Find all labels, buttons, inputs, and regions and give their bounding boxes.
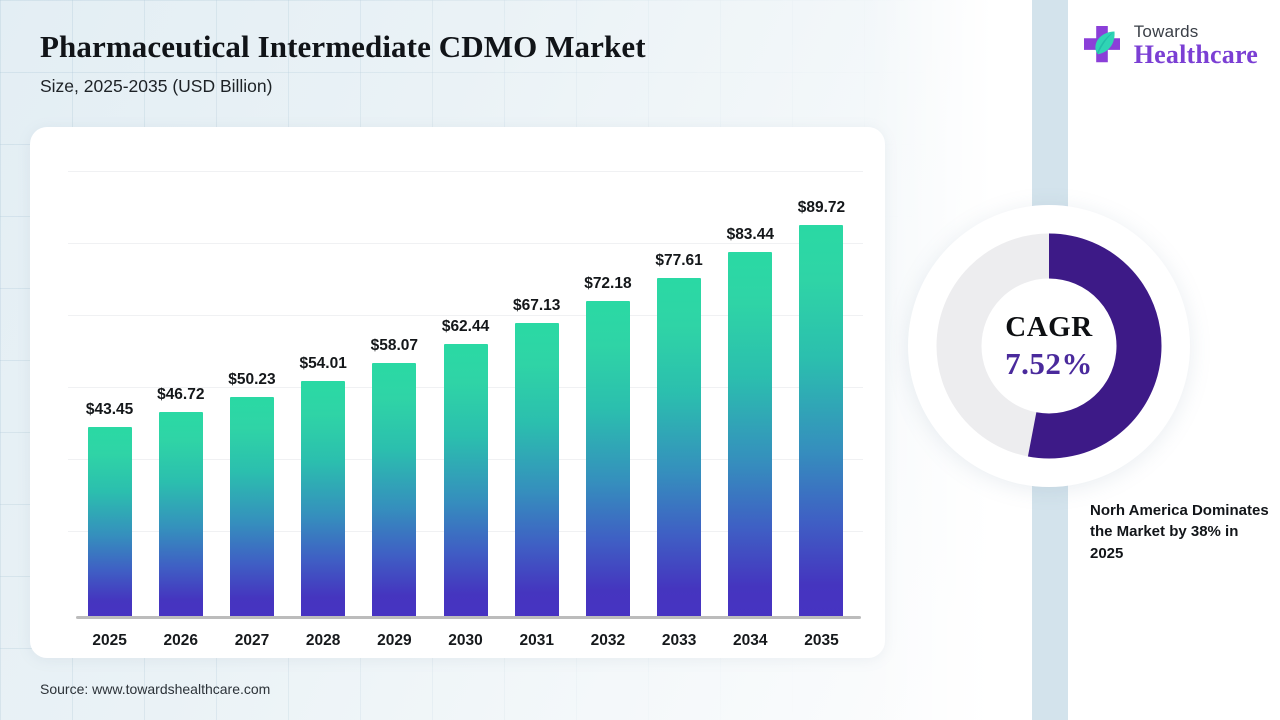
bar[interactable]: [301, 381, 345, 616]
bar-value-label: $67.13: [513, 297, 560, 315]
bar-slot[interactable]: $67.13: [501, 158, 572, 616]
chart-card: $43.45$46.72$50.23$54.01$58.07$62.44$67.…: [30, 127, 885, 658]
bar-slot[interactable]: $43.45: [74, 158, 145, 616]
bar[interactable]: [657, 278, 701, 616]
x-axis-tick-label: 2031: [501, 632, 572, 650]
x-axis-tick-label: 2026: [145, 632, 216, 650]
cagr-value: 7.52%: [1005, 346, 1093, 382]
bar-value-label: $43.45: [86, 401, 133, 419]
brand-logo-line1: Towards: [1134, 23, 1258, 40]
x-axis-tick-label: 2025: [74, 632, 145, 650]
bar-slot[interactable]: $50.23: [216, 158, 287, 616]
bar-value-label: $50.23: [228, 371, 275, 389]
bar-value-label: $89.72: [798, 199, 845, 217]
x-axis-tick-label: 2028: [288, 632, 359, 650]
bar[interactable]: [728, 252, 772, 616]
x-axis-tick-label: 2027: [216, 632, 287, 650]
x-axis-tick-label: 2032: [572, 632, 643, 650]
bar-value-label: $72.18: [584, 275, 631, 293]
x-axis-tick-label: 2030: [430, 632, 501, 650]
page-title: Pharmaceutical Intermediate CDMO Market: [40, 30, 870, 65]
brand-logo-line2: Healthcare: [1134, 42, 1258, 68]
header: Pharmaceutical Intermediate CDMO Market …: [40, 30, 870, 97]
donut-center-text: CAGR 7.52%: [908, 205, 1190, 487]
bar[interactable]: [230, 397, 274, 616]
bar[interactable]: [444, 344, 488, 616]
cagr-label: CAGR: [1005, 311, 1092, 344]
x-axis-labels: 2025202620272028202920302031203220332034…: [68, 632, 863, 650]
bar[interactable]: [586, 301, 630, 616]
bar-chart-plot-area: $43.45$46.72$50.23$54.01$58.07$62.44$67.…: [68, 158, 863, 619]
bar-value-label: $77.61: [655, 252, 702, 270]
bar[interactable]: [159, 412, 203, 616]
medical-cross-leaf-icon: [1079, 22, 1125, 68]
source-note: Source: www.towardshealthcare.com: [40, 681, 270, 697]
bar-slot[interactable]: $89.72: [786, 158, 857, 616]
x-axis-line: [76, 616, 861, 619]
bar-slot[interactable]: $58.07: [359, 158, 430, 616]
x-axis-tick-label: 2034: [715, 632, 786, 650]
region-highlight-note: Norh America Dominates the Market by 38%…: [1090, 500, 1270, 564]
bar-slot[interactable]: $72.18: [572, 158, 643, 616]
page-subtitle: Size, 2025-2035 (USD Billion): [40, 76, 870, 97]
bar-value-label: $83.44: [727, 226, 774, 244]
x-axis-tick-label: 2029: [359, 632, 430, 650]
bar-value-label: $54.01: [299, 355, 346, 373]
bar-value-label: $62.44: [442, 318, 489, 336]
x-axis-tick-label: 2035: [786, 632, 857, 650]
bar[interactable]: [515, 323, 559, 616]
bar[interactable]: [799, 225, 843, 616]
bar-value-label: $58.07: [371, 337, 418, 355]
bar-slot[interactable]: $46.72: [145, 158, 216, 616]
bar-value-label: $46.72: [157, 386, 204, 404]
bar[interactable]: [88, 427, 132, 616]
brand-logo-text: Towards Healthcare: [1134, 23, 1258, 68]
brand-logo: Towards Healthcare: [1079, 22, 1258, 68]
bar-series: $43.45$46.72$50.23$54.01$58.07$62.44$67.…: [68, 158, 863, 616]
x-axis-tick-label: 2033: [644, 632, 715, 650]
cagr-donut-chart: CAGR 7.52%: [908, 205, 1190, 487]
bar-slot[interactable]: $77.61: [644, 158, 715, 616]
bar[interactable]: [372, 363, 416, 616]
bar-slot[interactable]: $83.44: [715, 158, 786, 616]
bar-slot[interactable]: $62.44: [430, 158, 501, 616]
bar-slot[interactable]: $54.01: [288, 158, 359, 616]
